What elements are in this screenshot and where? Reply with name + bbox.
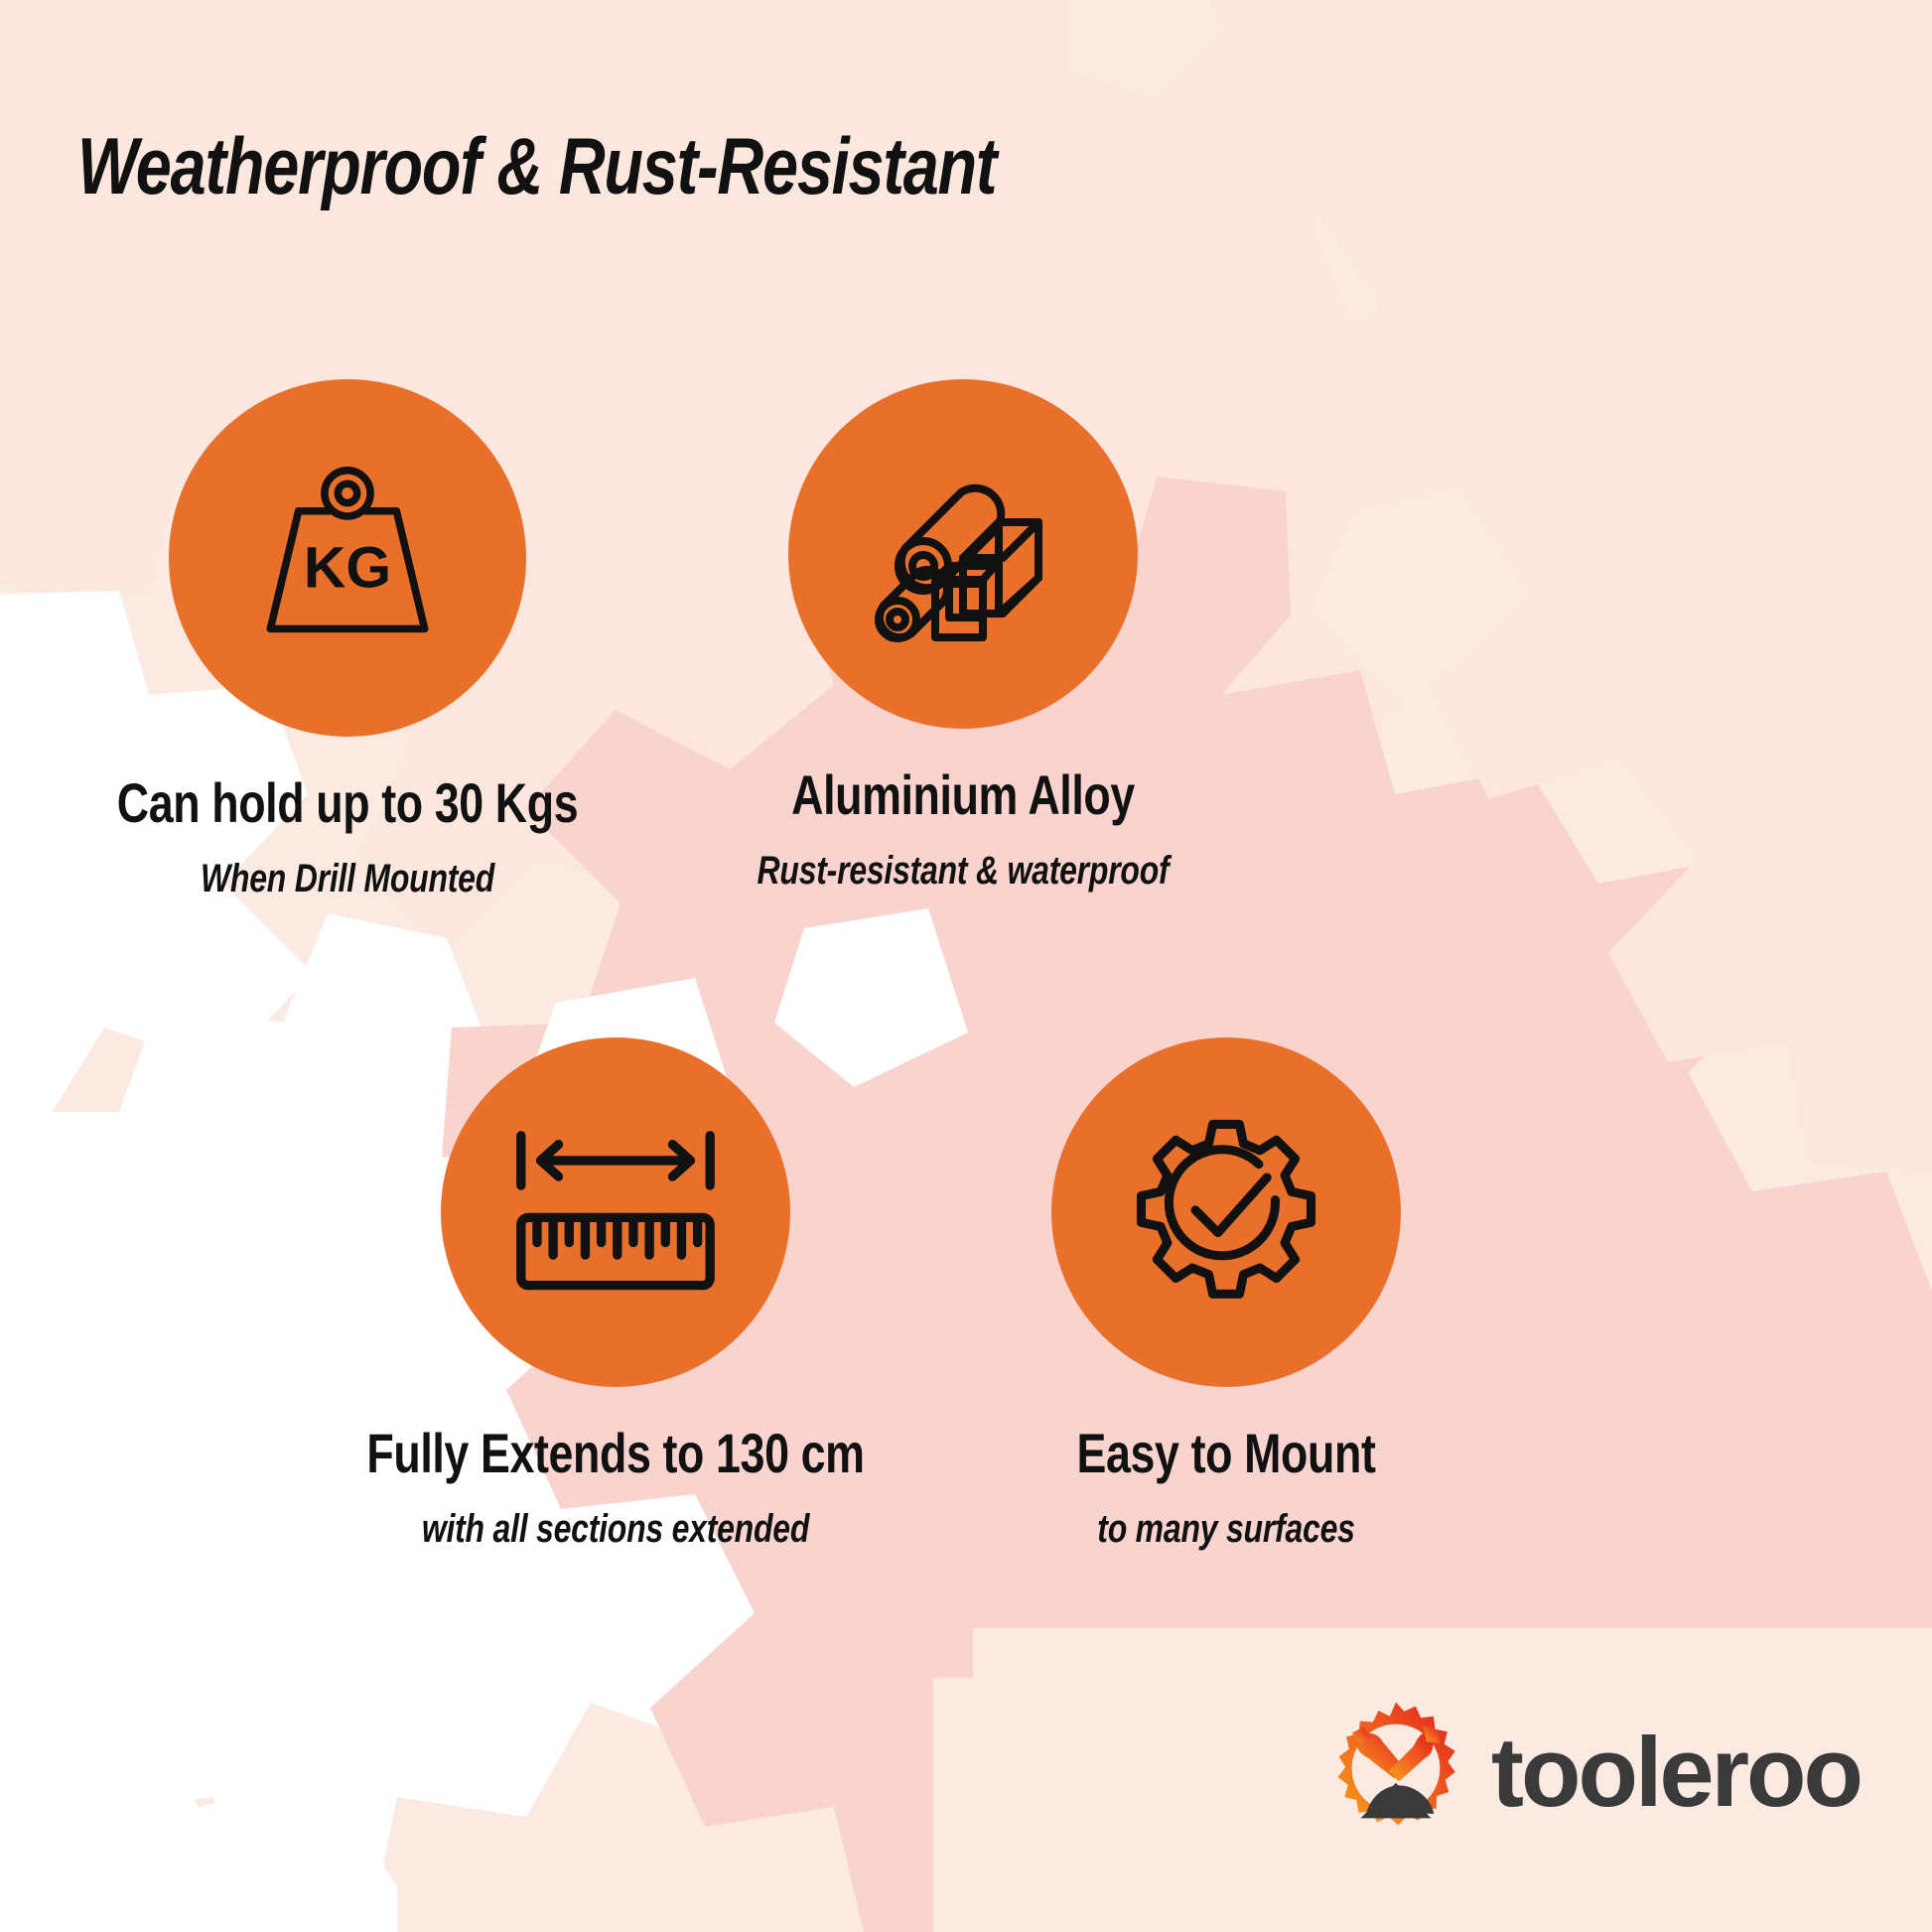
- ruler-measure-icon: [508, 1125, 723, 1300]
- metal-profiles-icon: [864, 455, 1062, 653]
- feature-title: Fully Extends to 130 cm: [353, 1421, 878, 1485]
- feature-card-material: Aluminium Alloy Rust-resistant & waterpr…: [635, 379, 1291, 894]
- feature-icon-circle: [1051, 1037, 1401, 1387]
- feature-icon-circle: KG: [169, 379, 526, 737]
- feature-card-weight: KG Can hold up to 30 Kgs When Drill Moun…: [20, 379, 675, 901]
- logo-wordmark: tooleroo: [1491, 1723, 1861, 1821]
- gear-wrench-hammer-icon: [1322, 1698, 1469, 1845]
- feature-icon-circle: [441, 1037, 790, 1387]
- brand-logo[interactable]: tooleroo: [1322, 1698, 1861, 1845]
- feature-subtitle: to many surfaces: [964, 1507, 1488, 1552]
- feature-card-length: Fully Extends to 130 cm with all section…: [288, 1037, 943, 1552]
- feature-icon-circle: [788, 379, 1138, 729]
- feature-subtitle: When Drill Mounted: [85, 857, 610, 901]
- feature-subtitle: Rust-resistant & waterproof: [701, 849, 1225, 894]
- svg-text:KG: KG: [304, 535, 391, 600]
- gear-check-icon: [1124, 1110, 1328, 1314]
- feature-card-mounting: Easy to Mount to many surfaces: [898, 1037, 1554, 1552]
- kg-weight-icon: KG: [243, 454, 452, 662]
- feature-subtitle: with all sections extended: [353, 1507, 878, 1552]
- feature-title: Easy to Mount: [964, 1421, 1488, 1485]
- feature-title: Aluminium Alloy: [701, 762, 1225, 827]
- feature-title: Can hold up to 30 Kgs: [85, 770, 610, 835]
- feature-grid: KG Can hold up to 30 Kgs When Drill Moun…: [0, 0, 1932, 1932]
- infographic-canvas: Weatherproof & Rust-Resistant KG Can hol…: [0, 0, 1932, 1932]
